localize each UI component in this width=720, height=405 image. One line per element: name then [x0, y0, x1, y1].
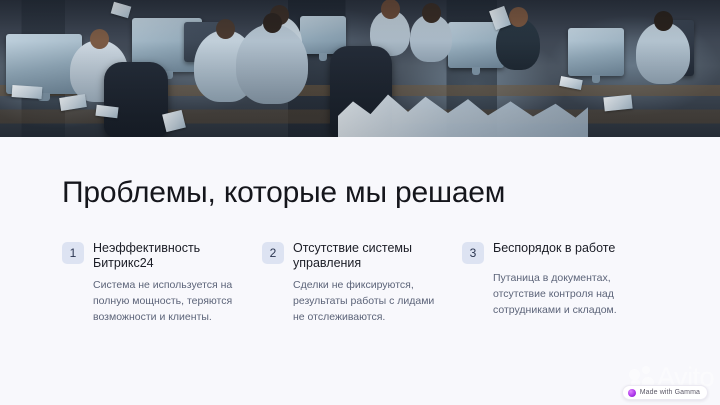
problem-body: Путаница в документах, отсутствие контро…: [493, 270, 646, 318]
problem-number-badge: 1: [62, 242, 84, 264]
problem-number-badge: 3: [462, 242, 484, 264]
problem-number-badge: 2: [262, 242, 284, 264]
problem-header: 2 Отсутствие системы управления: [262, 241, 446, 271]
hero-image: [0, 0, 720, 137]
problem-body: Система не используется на полную мощнос…: [93, 277, 246, 325]
problem-column-3: 3 Беспорядок в работе Путаница в докумен…: [462, 241, 662, 325]
slide: Проблемы, которые мы решаем 1 Неэффектив…: [0, 0, 720, 405]
content-area: Проблемы, которые мы решаем 1 Неэффектив…: [0, 137, 720, 405]
problem-body: Сделки не фиксируются, результаты работы…: [293, 277, 446, 325]
problem-column-2: 2 Отсутствие системы управления Сделки н…: [262, 241, 462, 325]
page-title: Проблемы, которые мы решаем: [62, 176, 505, 210]
problem-column-1: 1 Неэффективность Битрикс24 Система не и…: [62, 241, 262, 325]
problem-title: Отсутствие системы управления: [293, 241, 446, 271]
problem-header: 3 Беспорядок в работе: [462, 241, 646, 264]
gamma-logo-icon: [628, 389, 636, 397]
made-with-gamma-badge[interactable]: Made with Gamma: [622, 385, 708, 400]
problem-header: 1 Неэффективность Битрикс24: [62, 241, 246, 271]
problem-title: Беспорядок в работе: [493, 241, 615, 256]
gamma-badge-label: Made with Gamma: [640, 388, 700, 397]
hero-gradient-overlay: [0, 0, 720, 137]
problem-title: Неэффективность Битрикс24: [93, 241, 246, 271]
problem-columns: 1 Неэффективность Битрикс24 Система не и…: [62, 241, 662, 325]
